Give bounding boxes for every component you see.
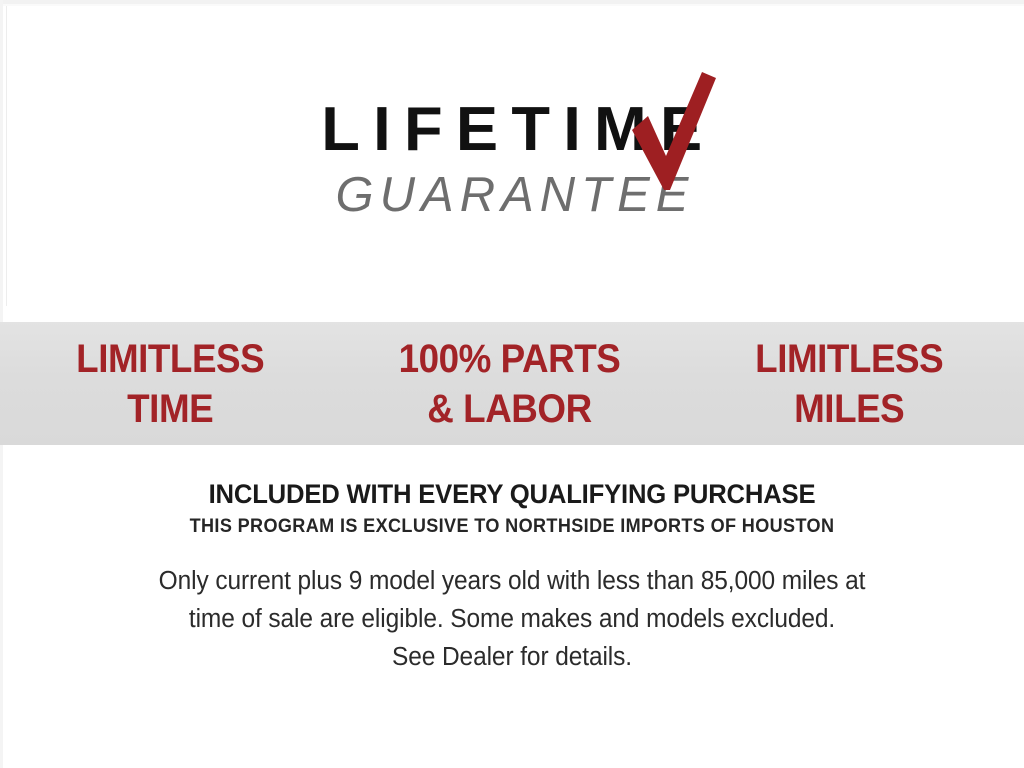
feature-time-line2: TIME <box>77 384 265 434</box>
included-headline: INCLUDED WITH EVERY QUALIFYING PURCHASE <box>26 478 999 510</box>
logo-guarantee-text: GUARANTEE <box>312 168 711 222</box>
feature-parts-line2: & LABOR <box>399 384 621 434</box>
disclaimer-text: Only current plus 9 model years old with… <box>80 562 944 676</box>
disclaimer-line-1: Only current plus 9 model years old with… <box>80 562 944 600</box>
disclaimer-line-2: time of sale are eligible. Some makes an… <box>80 600 944 638</box>
feature-parts-line1: 100% PARTS <box>399 334 621 384</box>
brand-logo: LIFETIME GUARANTEE <box>0 96 1024 222</box>
feature-limitless-time: LIMITLESS TIME <box>77 334 265 434</box>
logo-lifetime-text: LIFETIME <box>308 96 715 164</box>
feature-time-line1: LIMITLESS <box>77 334 265 384</box>
exclusive-subhead: THIS PROGRAM IS EXCLUSIVE TO NORTHSIDE I… <box>26 514 999 540</box>
feature-miles-line2: MILES <box>755 384 943 434</box>
disclaimer-line-3: See Dealer for details. <box>80 638 944 676</box>
lifetime-guarantee-ad: LIFETIME GUARANTEE LIMITLESS TIME 100% P… <box>0 0 1024 768</box>
feature-parts-labor: 100% PARTS & LABOR <box>399 334 621 434</box>
feature-limitless-miles: LIMITLESS MILES <box>755 334 943 434</box>
top-edge-strip-2 <box>0 4 1024 6</box>
feature-miles-line1: LIMITLESS <box>755 334 943 384</box>
lower-copy-block: INCLUDED WITH EVERY QUALIFYING PURCHASE … <box>0 478 1024 676</box>
logo-wordmark: LIFETIME GUARANTEE <box>312 96 711 222</box>
feature-band: LIMITLESS TIME 100% PARTS & LABOR LIMITL… <box>0 322 1024 445</box>
